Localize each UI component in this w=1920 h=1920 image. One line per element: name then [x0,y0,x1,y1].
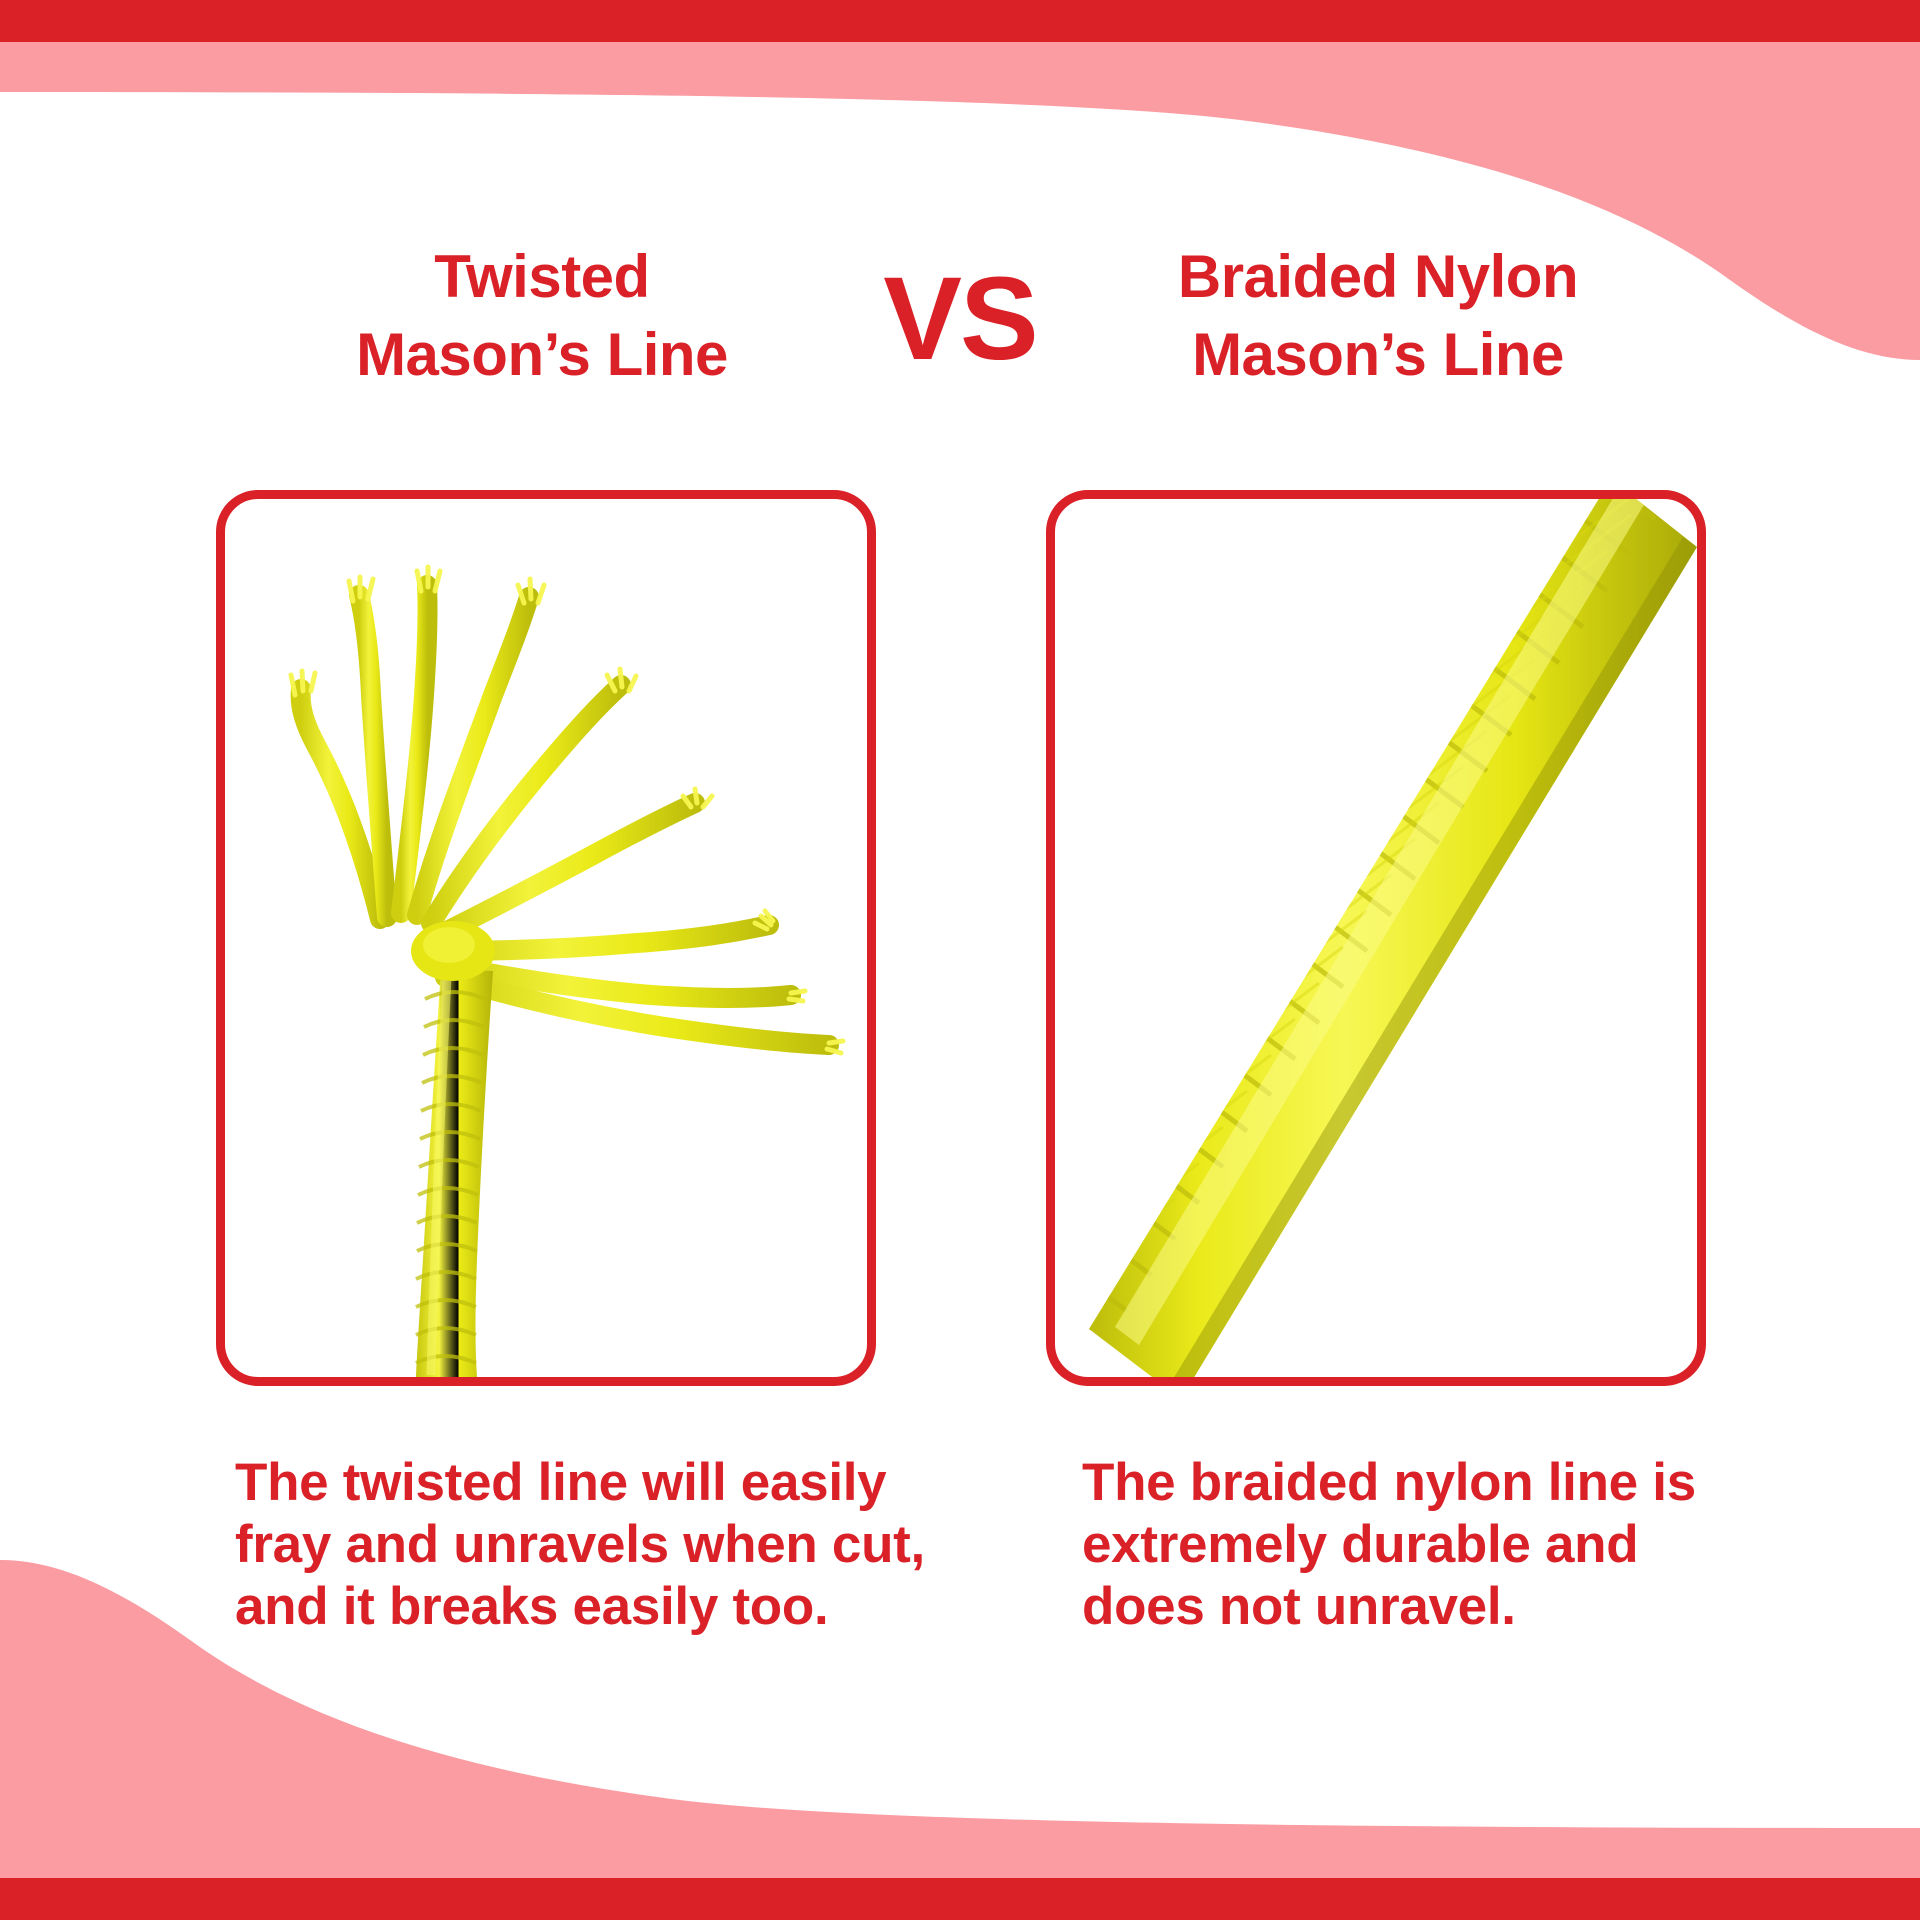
heading-right: Braided Nylon Mason’s Line [1048,238,1708,394]
heading-left-line1: Twisted [212,238,872,316]
heading-left: Twisted Mason’s Line [212,238,872,394]
panel-braided-line [1046,490,1706,1386]
heading-right-line2: Mason’s Line [1048,316,1708,394]
vs-label: VS [872,260,1048,378]
caption-twisted: The twisted line will easily fray and un… [235,1452,915,1638]
panel-twisted-line [216,490,876,1386]
caption-twisted-line1: The twisted line will easily [235,1452,915,1514]
caption-braided-line3: does not unravel. [1082,1576,1722,1638]
heading-left-line2: Mason’s Line [212,316,872,394]
caption-twisted-line2: fray and unravels when cut, [235,1514,915,1576]
caption-twisted-line3: and it breaks easily too. [235,1576,915,1638]
rope-core [416,969,493,1377]
red-bar-bottom [0,1878,1920,1920]
caption-braided-line1: The braided nylon line is [1082,1452,1722,1514]
headings-row: Twisted Mason’s Line VS Braided Nylon Ma… [0,238,1920,418]
comparison-infographic: Twisted Mason’s Line VS Braided Nylon Ma… [0,0,1920,1920]
heading-right-line1: Braided Nylon [1048,238,1708,316]
braided-line-image [1055,499,1697,1377]
caption-braided-line2: extremely durable and [1082,1514,1722,1576]
twisted-line-image [225,499,867,1377]
caption-braided: The braided nylon line is extremely dura… [1082,1452,1722,1638]
red-bar-top [0,0,1920,42]
